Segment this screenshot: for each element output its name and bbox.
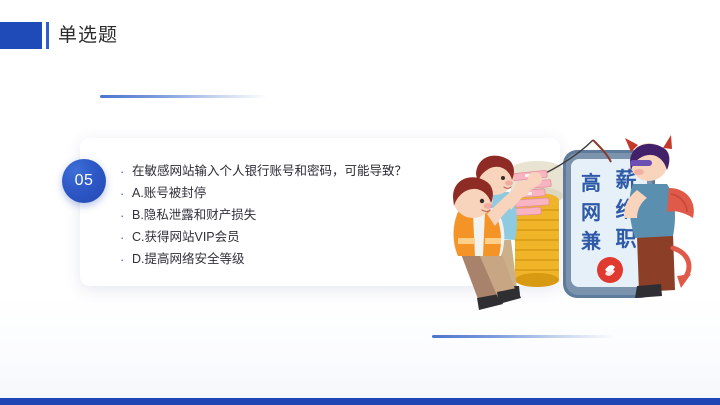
- option-label: C.获得网站VIP会员: [132, 230, 240, 245]
- bullet-icon: ·: [120, 230, 132, 245]
- question-number-badge: 05: [62, 159, 106, 203]
- option-label: D.提高网络安全等级: [132, 252, 245, 267]
- slide-canvas: 单选题 05 · 在敏感网站输入个人银行账号和密码，可能导致？ · A.账号被封…: [0, 0, 720, 405]
- bullet-icon: ·: [120, 252, 132, 267]
- page-title: 单选题: [58, 22, 118, 49]
- option-label: A.账号被封停: [132, 186, 206, 201]
- phone-char: 兼: [581, 229, 602, 253]
- phone-char: 高: [581, 171, 601, 195]
- phone-char: 网: [581, 202, 601, 224]
- question-stem-text: 在敏感网站输入个人银行账号和密码，可能导致？: [132, 164, 407, 179]
- bullet-icon: ·: [120, 186, 132, 201]
- footer-accent-bar: [0, 398, 720, 405]
- scam-illustration: 高 薪 网 络 兼 职: [425, 118, 720, 313]
- bullet-icon: ·: [120, 164, 132, 179]
- option-label: B.隐私泄露和财产损失: [132, 208, 256, 223]
- bullet-icon: ·: [120, 208, 132, 223]
- decor-rule-top: [100, 95, 268, 98]
- header-accent-block: [0, 22, 42, 49]
- decor-rule-bottom: [432, 335, 614, 338]
- header-accent-tick: [46, 22, 49, 49]
